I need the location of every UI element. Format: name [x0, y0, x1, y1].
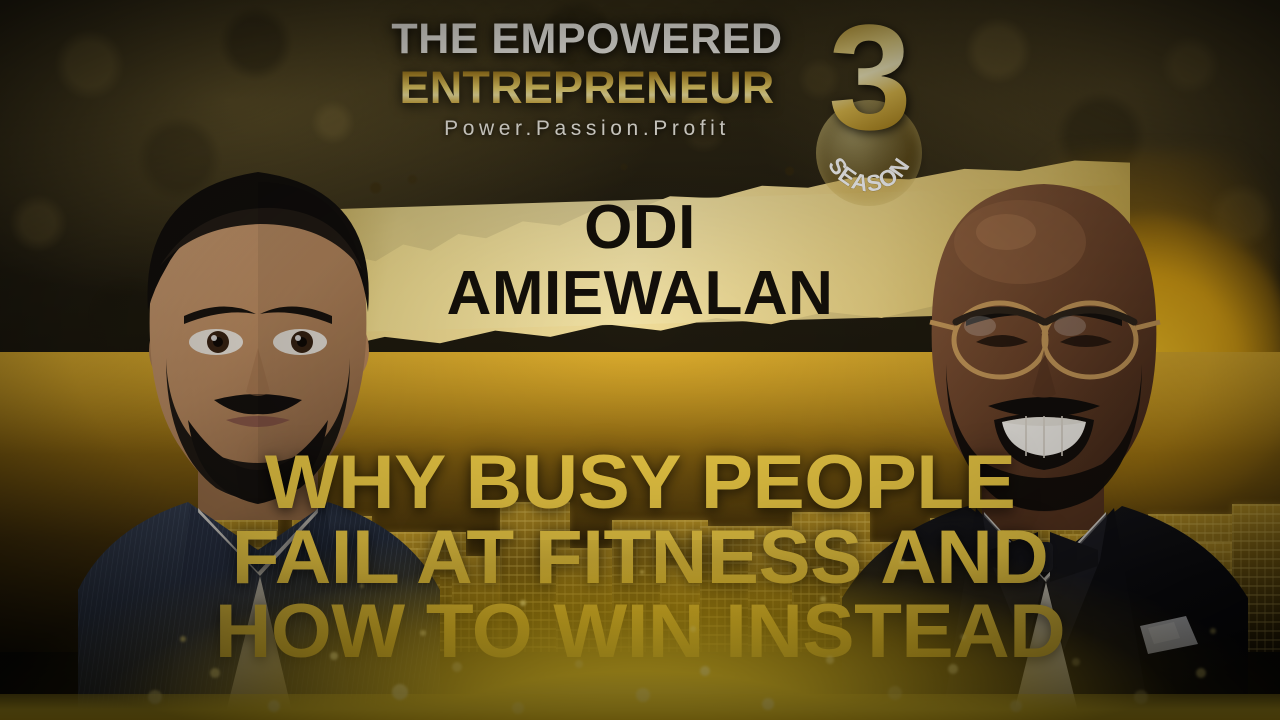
vignette: [0, 0, 1280, 720]
podcast-thumbnail: THE EMPOWERED ENTREPRENEUR Power.Passion…: [0, 0, 1280, 720]
